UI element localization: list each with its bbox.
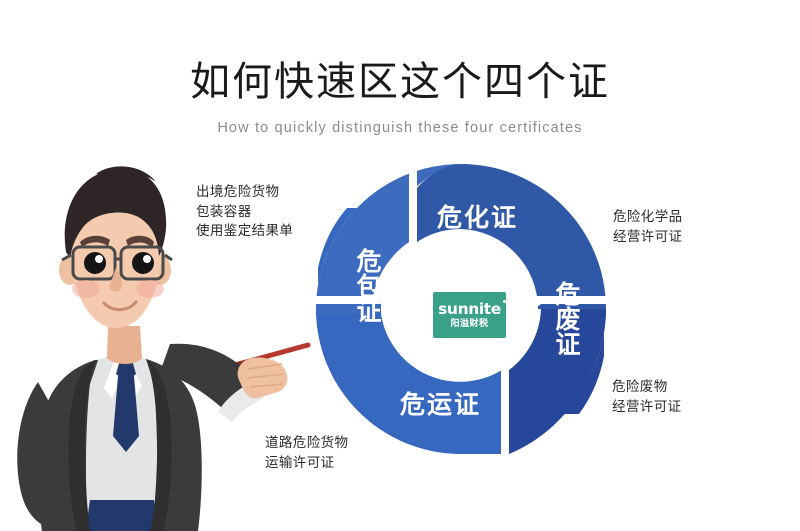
page-subtitle: How to quickly distinguish these four ce…	[0, 119, 800, 137]
cheek-right	[136, 280, 164, 298]
logo-wordmark-text: sunnite	[438, 300, 501, 318]
poster-header: 如何快速区这个四个证 How to quickly distinguish th…	[0, 58, 800, 137]
annotation-bottom-right: 危险废物 经营许可证	[612, 378, 682, 417]
annotation-top-right: 危险化学品 经营许可证	[613, 208, 683, 247]
eye-right-glint	[143, 255, 151, 263]
sunnite-logo: sunnite 阳溢财税	[433, 292, 506, 338]
logo-wordmark: sunnite	[438, 301, 501, 317]
necktie	[113, 360, 139, 452]
annotation-top-left: 出境危险货物 包装容器 使用鉴定结果单	[196, 183, 293, 242]
logo-dot-icon	[503, 300, 506, 303]
right-hand	[238, 357, 288, 398]
eye-left-glint	[95, 255, 103, 263]
annotation-bottom-left: 道路危险货物 运输许可证	[265, 434, 348, 473]
eye-left	[84, 252, 106, 274]
logo-chinese-name: 阳溢财税	[450, 319, 488, 330]
page-title: 如何快速区这个四个证	[0, 58, 800, 106]
eye-right	[132, 252, 154, 274]
cheek-left	[72, 280, 100, 298]
neck	[107, 326, 142, 364]
poster-canvas: 如何快速区这个四个证 How to quickly distinguish th…	[0, 0, 800, 531]
trousers	[87, 500, 156, 531]
